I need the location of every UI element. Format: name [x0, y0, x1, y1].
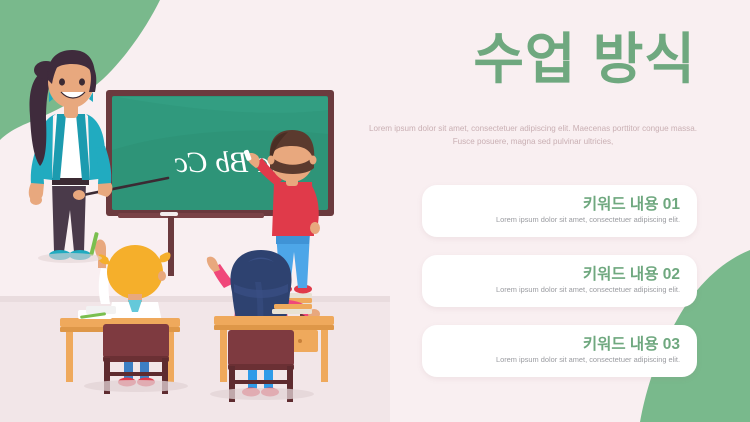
keyword-card-03[interactable]: 키워드 내용 03 Lorem ipsum dolor sit amet, co…: [422, 325, 697, 377]
page-description: Lorem ipsum dolor sit amet, consectetuer…: [366, 122, 700, 148]
keyword-card-subtitle: Lorem ipsum dolor sit amet, consectetuer…: [496, 355, 680, 364]
slide-canvas: Aa Bb Cc: [0, 0, 750, 422]
wall-line: [0, 296, 390, 302]
floor-shadow-left: [84, 380, 188, 392]
classroom-illustration: Aa Bb Cc: [0, 0, 390, 422]
keyword-card-title: 키워드 내용 01: [583, 192, 680, 214]
keyword-card-01[interactable]: 키워드 내용 01 Lorem ipsum dolor sit amet, co…: [422, 185, 697, 237]
keyword-card-subtitle: Lorem ipsum dolor sit amet, consectetuer…: [496, 285, 680, 294]
student-left-head: [107, 245, 163, 299]
keyword-card-02[interactable]: 키워드 내용 02 Lorem ipsum dolor sit amet, co…: [422, 255, 697, 307]
keyword-card-title: 키워드 내용 03: [583, 332, 680, 354]
floor-shadow-right: [210, 388, 314, 400]
keyword-card-subtitle: Lorem ipsum dolor sit amet, consectetuer…: [496, 215, 680, 224]
keyword-card-title: 키워드 내용 02: [583, 262, 680, 284]
page-title: 수업 방식: [424, 26, 696, 93]
floor-shadow-teacher: [38, 253, 102, 263]
